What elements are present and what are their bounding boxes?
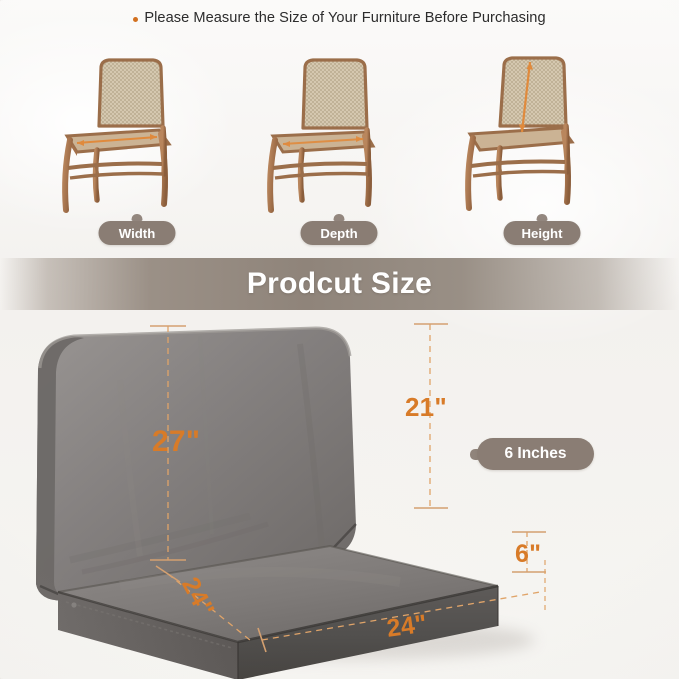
chair-illustration-height [442, 44, 642, 219]
chair-illustration-width [37, 44, 237, 219]
chair-label-width: Width [99, 221, 176, 245]
dimension-label-back-panel-height: 21" [405, 392, 447, 423]
chair-card-height: Height [442, 44, 642, 250]
chair-card-width: Width [37, 44, 237, 250]
dimension-label-seat-thickness: 6" [515, 540, 541, 569]
dimension-label-seat-width: 24" [385, 610, 429, 644]
chair-illustration-depth [239, 44, 439, 219]
pill-pointer-icon [334, 214, 345, 221]
banner-title: Prodcut Size [247, 267, 432, 301]
pill-pointer-icon [537, 214, 548, 221]
callout-6-inches: 6 Inches [477, 438, 594, 470]
chair-measure-row: Width [0, 44, 679, 250]
pill-pointer-icon [132, 214, 143, 221]
chair-card-depth: Depth [239, 44, 439, 250]
dimension-label-back-height: 27" [152, 425, 200, 459]
header-note-text: Please Measure the Size of Your Furnitur… [144, 10, 545, 26]
cushion-illustration [0, 310, 679, 679]
header-note: Please Measure the Size of Your Furnitur… [0, 10, 679, 26]
product-diagram [0, 310, 679, 679]
chair-label-depth: Depth [301, 221, 378, 245]
chair-label-height: Height [504, 221, 581, 245]
product-size-infographic: Please Measure the Size of Your Furnitur… [0, 0, 679, 679]
bullet-dot-icon [133, 17, 138, 22]
product-size-banner: Prodcut Size [0, 258, 679, 310]
